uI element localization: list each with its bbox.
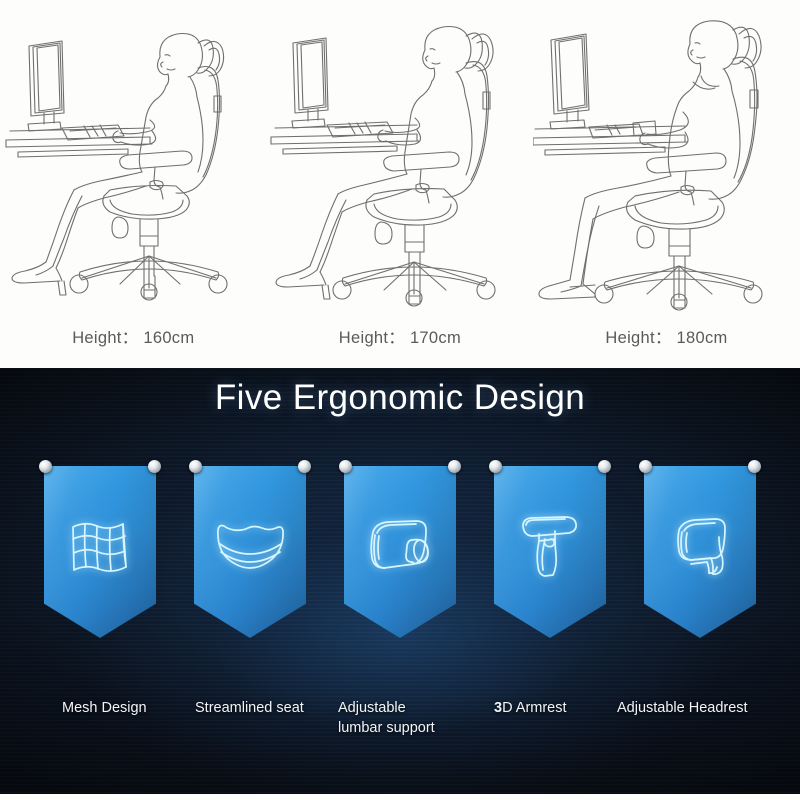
feature-banners-row: [44, 458, 756, 648]
feature-label-3d-armrest-rest: D Armrest: [502, 700, 566, 716]
banner-pin-left-icon: [189, 460, 202, 473]
feature-banner-3d-armrest[interactable]: [494, 458, 606, 638]
posture-illustration-170: [267, 0, 534, 318]
banner-pin-left-icon: [39, 460, 52, 473]
banner-pin-left-icon: [489, 460, 502, 473]
feature-label-lumbar-support: Adjustable lumbar support: [338, 698, 488, 738]
banner-pin-left-icon: [339, 460, 352, 473]
banner-pin-right-icon: [148, 460, 161, 473]
feature-label-headrest: Adjustable Headrest: [617, 698, 797, 718]
feature-label-3d-armrest: 3D Armrest: [494, 698, 634, 718]
posture-illustrations-row: [0, 0, 800, 318]
posture-illustration-180: [533, 0, 800, 318]
height-label-160: Height： 160cm: [0, 326, 267, 366]
mesh-grid-icon: [44, 504, 156, 590]
headrest-icon: [644, 504, 756, 590]
feature-banner-headrest[interactable]: [644, 458, 756, 638]
curved-seat-icon: [194, 504, 306, 590]
feature-label-3d-armrest-prefix: 3: [494, 700, 502, 716]
bottom-edge-strip: [0, 794, 800, 800]
feature-banner-mesh-design[interactable]: [44, 458, 156, 638]
section-title: Five Ergonomic Design: [0, 378, 800, 418]
feature-banner-lumbar-support[interactable]: [344, 458, 456, 638]
banner-pin-right-icon: [448, 460, 461, 473]
lumbar-support-icon: [344, 504, 456, 590]
banner-pin-left-icon: [639, 460, 652, 473]
posture-illustration-160: [0, 0, 267, 318]
posture-comparison-section: Height： 160cm Height： 170cm Height： 180c…: [0, 0, 800, 368]
armrest-icon: [494, 504, 606, 590]
feature-labels-row: Mesh Design Streamlined seat Adjustable …: [0, 698, 800, 768]
banner-pin-right-icon: [298, 460, 311, 473]
feature-label-mesh-design: Mesh Design: [62, 698, 192, 718]
height-label-170: Height： 170cm: [267, 326, 534, 366]
height-label-180: Height： 180cm: [533, 326, 800, 366]
banner-pin-right-icon: [598, 460, 611, 473]
feature-banner-streamlined-seat[interactable]: [194, 458, 306, 638]
height-labels-row: Height： 160cm Height： 170cm Height： 180c…: [0, 326, 800, 366]
ergonomic-features-section: Five Ergonomic Design: [0, 368, 800, 794]
feature-label-streamlined-seat: Streamlined seat: [195, 698, 345, 718]
banner-pin-right-icon: [748, 460, 761, 473]
